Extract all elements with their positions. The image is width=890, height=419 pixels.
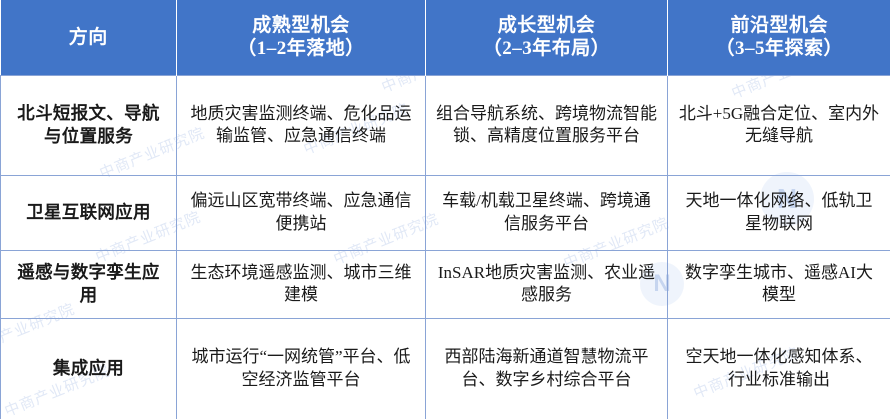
- cell-frontier: 数字孪生城市、遥感AI大模型: [668, 250, 890, 318]
- cell-growth: 组合导航系统、跨境物流智能锁、高精度位置服务平台: [426, 75, 668, 175]
- cell-mature: 生态环境遥感监测、城市三维建模: [177, 250, 426, 318]
- header-line-1: 前沿型机会: [674, 14, 885, 37]
- cell-frontier: 北斗+5G融合定位、室内外无缝导航: [668, 75, 890, 175]
- cell-growth: 西部陆海新通道智慧物流平台、数字乡村综合平台: [426, 318, 668, 419]
- cell-mature: 偏远山区宽带终端、应急通信便携站: [177, 175, 426, 250]
- header-line-1: 方向: [7, 26, 171, 49]
- table-row: 卫星互联网应用 偏远山区宽带终端、应急通信便携站 车载/机载卫星终端、跨境通信服…: [1, 175, 890, 250]
- opportunity-table: 方向 成熟型机会 （1–2年落地） 成长型机会 （2–3年布局） 前沿型机会 （…: [0, 0, 890, 419]
- column-header-frontier: 前沿型机会 （3–5年探索）: [668, 0, 890, 75]
- cell-direction: 卫星互联网应用: [1, 175, 177, 250]
- header-line-1: 成熟型机会: [183, 14, 419, 37]
- cell-direction: 集成应用: [1, 318, 177, 419]
- column-header-mature: 成熟型机会 （1–2年落地）: [177, 0, 426, 75]
- cell-frontier: 空天地一体化感知体系、行业标准输出: [668, 318, 890, 419]
- cell-growth: 车载/机载卫星终端、跨境通信服务平台: [426, 175, 668, 250]
- header-line-2: （3–5年探索）: [674, 37, 885, 60]
- table-row: 集成应用 城市运行“一网统管”平台、低空经济监管平台 西部陆海新通道智慧物流平台…: [1, 318, 890, 419]
- column-header-growth: 成长型机会 （2–3年布局）: [426, 0, 668, 75]
- table-header: 方向 成熟型机会 （1–2年落地） 成长型机会 （2–3年布局） 前沿型机会 （…: [1, 0, 890, 75]
- table-row: 遥感与数字孪生应用 生态环境遥感监测、城市三维建模 InSAR地质灾害监测、农业…: [1, 250, 890, 318]
- header-row: 方向 成熟型机会 （1–2年落地） 成长型机会 （2–3年布局） 前沿型机会 （…: [1, 0, 890, 75]
- cell-frontier: 天地一体化网络、低轨卫星物联网: [668, 175, 890, 250]
- cell-growth: InSAR地质灾害监测、农业遥感服务: [426, 250, 668, 318]
- table-body: 北斗短报文、导航与位置服务 地质灾害监测终端、危化品运输监管、应急通信终端 组合…: [1, 75, 890, 419]
- cell-direction: 北斗短报文、导航与位置服务: [1, 75, 177, 175]
- opportunity-table-container: N N N 中商产业研究院 中商产业研究院 中商产业研究院 中商产业研究院 中商…: [0, 0, 890, 419]
- column-header-direction: 方向: [1, 0, 177, 75]
- cell-mature: 地质灾害监测终端、危化品运输监管、应急通信终端: [177, 75, 426, 175]
- header-line-2: （1–2年落地）: [183, 37, 419, 60]
- header-line-2: （2–3年布局）: [432, 37, 661, 60]
- table-row: 北斗短报文、导航与位置服务 地质灾害监测终端、危化品运输监管、应急通信终端 组合…: [1, 75, 890, 175]
- cell-mature: 城市运行“一网统管”平台、低空经济监管平台: [177, 318, 426, 419]
- cell-direction: 遥感与数字孪生应用: [1, 250, 177, 318]
- header-line-1: 成长型机会: [432, 14, 661, 37]
